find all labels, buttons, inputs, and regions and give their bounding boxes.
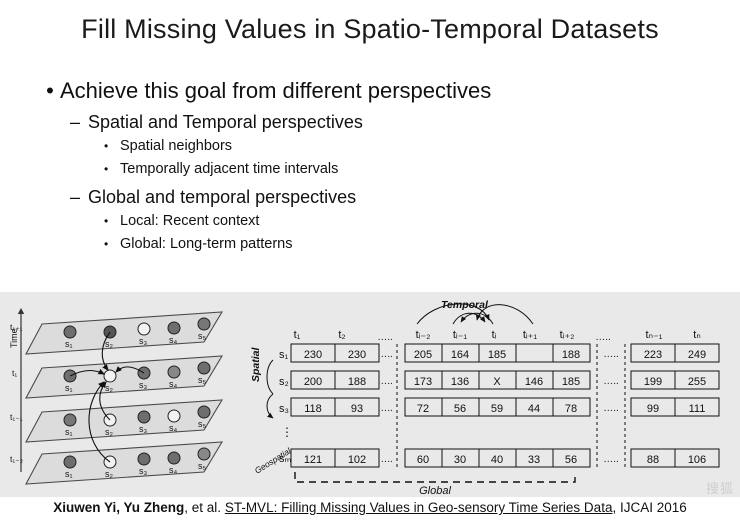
cell-missing: X <box>493 376 501 388</box>
plane-label: t₁₋₂ <box>10 454 23 464</box>
col-header: tᵢ <box>492 329 497 341</box>
svg-text:s₂: s₂ <box>105 469 114 479</box>
svg-text:s₅: s₅ <box>198 331 207 341</box>
cell: 30 <box>454 454 466 466</box>
cell: 78 <box>565 403 577 415</box>
col-header: tᵢ₊₁ <box>523 329 538 341</box>
svg-text:…..: ….. <box>603 403 619 414</box>
svg-text:…..: ….. <box>377 403 393 414</box>
svg-text:…..: ….. <box>377 454 393 465</box>
bullet-level2-label: Spatial and Temporal perspectives <box>88 111 363 133</box>
bullet-level2-global: – Global and temporal perspectives <box>70 186 700 208</box>
cell: 230 <box>304 349 322 361</box>
cell: 188 <box>348 376 366 388</box>
cell: 118 <box>304 403 322 415</box>
bullet-level3-text: Spatial neighbors <box>120 136 232 156</box>
watermark: 搜狐 <box>706 478 734 497</box>
plane-third: s₁ s₂ s₃ s₄ s₅ t₁₋₁ <box>10 400 222 442</box>
plane-label: t₁₋₁ <box>10 412 23 422</box>
cell: 146 <box>525 376 543 388</box>
col-header: ….. <box>595 332 611 343</box>
svg-text:s₅: s₅ <box>198 461 207 471</box>
col-header: tₙ₋₁ <box>646 329 663 341</box>
plane-top: s₁ s₂ s₃ s₄ s₅ t₁₊₁ <box>10 312 222 354</box>
figure-caption: Xiuwen Yi, Yu Zheng, et al. ST-MVL: Fill… <box>0 500 740 515</box>
small-bullet-icon: • <box>104 211 120 231</box>
data-table-diagram: Temporal t₁ t₂ ….. tᵢ₋₂ tᵢ₋₁ tᵢ tᵢ₊₁ t <box>245 294 735 497</box>
cell: 185 <box>488 349 506 361</box>
page-title: Fill Missing Values in Spatio-Temporal D… <box>0 14 740 45</box>
svg-text:…..: ….. <box>603 454 619 465</box>
cell: 200 <box>304 376 322 388</box>
svg-text:s₁: s₁ <box>65 383 73 393</box>
cell: 121 <box>304 454 322 466</box>
plane-bottom: s₁ s₂ s₃ s₄ s₅ t₁₋₂ <box>10 442 222 484</box>
bullet-level3-text: Temporally adjacent time intervals <box>120 159 338 179</box>
cell: 60 <box>417 454 429 466</box>
planes-svg: Time s₁ s₂ s₃ s₄ s₅ t₁₊₁ <box>8 302 236 487</box>
cell: 199 <box>644 376 662 388</box>
svg-text:s₅: s₅ <box>198 419 207 429</box>
cell: 102 <box>348 454 366 466</box>
svg-text:s₁: s₁ <box>65 339 73 349</box>
svg-text:s₄: s₄ <box>169 465 178 475</box>
svg-text:s₄: s₄ <box>169 335 178 345</box>
svg-text:s₄: s₄ <box>169 423 178 433</box>
bullet-level1: • Achieve this goal from different persp… <box>40 78 700 104</box>
cell: 111 <box>689 403 706 415</box>
bullet-level2-label: Global and temporal perspectives <box>88 186 356 208</box>
bullet-disc-icon: • <box>40 78 60 104</box>
cell: 99 <box>647 403 659 415</box>
svg-text:s₂: s₂ <box>105 339 114 349</box>
spatial-annotation: Spatial <box>250 346 262 382</box>
col-header: t₂ <box>338 329 345 341</box>
plane-label: t₁ <box>12 368 17 378</box>
svg-text:…..: ….. <box>377 349 393 360</box>
cell: 72 <box>417 403 429 415</box>
row-label: s₃ <box>279 403 289 415</box>
row-label: ⋮ <box>281 425 293 439</box>
cell: 56 <box>565 454 577 466</box>
svg-text:s₂: s₂ <box>105 383 114 393</box>
cell: 44 <box>528 403 540 415</box>
caption-post: , IJCAI 2016 <box>612 500 686 515</box>
dash-icon: – <box>70 186 88 208</box>
row-label: s₂ <box>279 376 289 388</box>
cell: 223 <box>644 349 662 361</box>
cell: 205 <box>414 349 432 361</box>
row-label: s₁ <box>279 349 289 361</box>
bullet-level3-item: • Local: Recent context <box>104 211 700 231</box>
cell: 33 <box>528 454 540 466</box>
svg-text:…..: ….. <box>603 349 619 360</box>
bullet-level2-spatial: – Spatial and Temporal perspectives <box>70 111 700 133</box>
col-header: ….. <box>377 332 393 343</box>
caption-paper-link[interactable]: ST-MVL: Filling Missing Values in Geo-se… <box>225 500 613 515</box>
cell: 249 <box>688 349 706 361</box>
bullet-level3-item: • Global: Long-term patterns <box>104 234 700 254</box>
cell: 88 <box>647 454 659 466</box>
cell: 164 <box>451 349 469 361</box>
caption-authors: Xiuwen Yi, Yu Zheng <box>53 500 184 515</box>
svg-text:s₁: s₁ <box>65 427 73 437</box>
col-header: tₙ <box>693 329 700 341</box>
dash-icon: – <box>70 111 88 133</box>
cell: 106 <box>688 454 706 466</box>
svg-text:s₁: s₁ <box>65 469 73 479</box>
svg-text:s₃: s₃ <box>139 380 148 390</box>
table-svg: Temporal t₁ t₂ ….. tᵢ₋₂ tᵢ₋₁ tᵢ tᵢ₊₁ t <box>245 294 735 497</box>
col-header: tᵢ₋₂ <box>416 329 431 341</box>
col-header: tᵢ₊₂ <box>560 329 575 341</box>
cell: 56 <box>454 403 466 415</box>
svg-text:s₃: s₃ <box>139 424 148 434</box>
figure-panel: Time s₁ s₂ s₃ s₄ s₅ t₁₊₁ <box>0 292 740 497</box>
bullet-level3-item: • Spatial neighbors <box>104 136 700 156</box>
cell: 188 <box>562 349 580 361</box>
global-annotation: Global <box>419 485 451 497</box>
col-header: t₁ <box>294 329 301 341</box>
slide: Fill Missing Values in Spatio-Temporal D… <box>0 0 740 531</box>
cell: 40 <box>491 454 503 466</box>
svg-text:…..: ….. <box>377 376 393 387</box>
cell: 185 <box>562 376 580 388</box>
cell: 173 <box>414 376 432 388</box>
bullet-level3-item: • Temporally adjacent time intervals <box>104 159 700 179</box>
stacked-planes-diagram: Time s₁ s₂ s₃ s₄ s₅ t₁₊₁ <box>8 302 236 487</box>
bullet-level3-text: Local: Recent context <box>120 211 259 231</box>
bullet-list: • Achieve this goal from different persp… <box>40 78 700 255</box>
svg-text:s₃: s₃ <box>139 336 148 346</box>
cell: 136 <box>451 376 469 388</box>
svg-text:s₃: s₃ <box>139 466 148 476</box>
small-bullet-icon: • <box>104 159 120 179</box>
svg-text:s₄: s₄ <box>169 379 178 389</box>
cell: 230 <box>348 349 366 361</box>
cell: 93 <box>351 403 363 415</box>
plane-label: t₁₊₁ <box>10 322 23 332</box>
svg-text:s₅: s₅ <box>198 375 207 385</box>
col-header: tᵢ₋₁ <box>453 329 468 341</box>
svg-text:s₂: s₂ <box>105 427 114 437</box>
small-bullet-icon: • <box>104 234 120 254</box>
svg-text:…..: ….. <box>603 376 619 387</box>
bullet-level3-text: Global: Long-term patterns <box>120 234 292 254</box>
bullet-level1-text: Achieve this goal from different perspec… <box>60 78 491 104</box>
caption-pre: , et al. <box>184 500 225 515</box>
cell: 255 <box>688 376 706 388</box>
plane-second: s₁ s₂ s₃ s₄ s₅ t₁ <box>12 356 222 398</box>
cell: 59 <box>491 403 503 415</box>
small-bullet-icon: • <box>104 136 120 156</box>
